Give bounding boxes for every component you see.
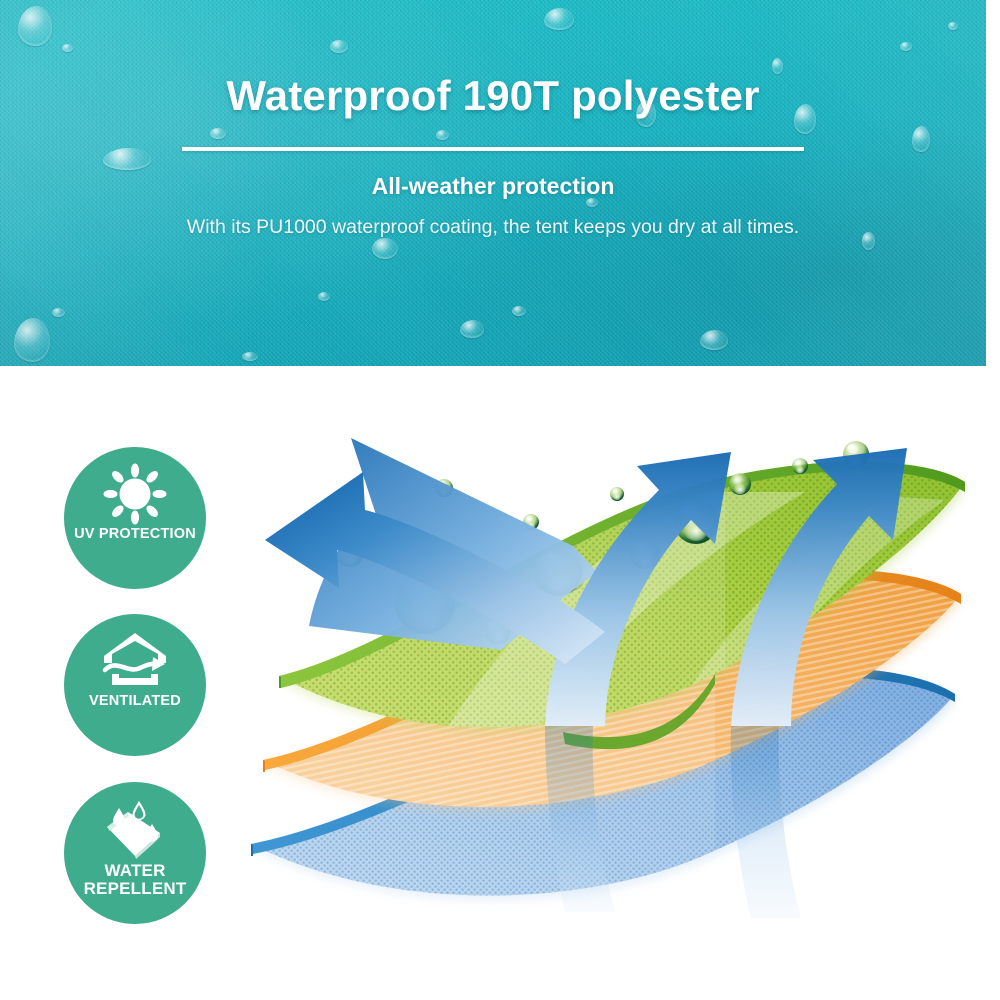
badge-label: UV PROTECTION <box>74 527 196 543</box>
house-airflow-icon <box>96 630 174 692</box>
fabric-droplets-icon <box>96 798 174 860</box>
badge-label: VENTILATED <box>89 694 181 710</box>
badge-label-line1: WATER <box>104 861 165 880</box>
badge-uv-protection: UV PROTECTION <box>64 447 206 589</box>
badge-label: WATER REPELLENT <box>84 862 187 898</box>
arrow-left-overlay <box>245 426 705 726</box>
badge-label-line2: REPELLENT <box>84 879 187 898</box>
hero-text-block: Waterproof 190T polyester All-weather pr… <box>0 0 986 242</box>
features-section: UV PROTECTION VENTILATED <box>0 366 1000 1000</box>
hero-body-text: With its PU1000 waterproof coating, the … <box>0 214 986 242</box>
hero-title: Waterproof 190T polyester <box>0 72 986 120</box>
hero-subtitle: All-weather protection <box>0 173 986 200</box>
hero-divider-rule <box>182 147 804 151</box>
sun-icon <box>96 463 174 525</box>
badge-ventilated: VENTILATED <box>64 614 206 756</box>
hero-banner: Waterproof 190T polyester All-weather pr… <box>0 0 1000 366</box>
badge-water-repellent: WATER REPELLENT <box>64 782 206 924</box>
hero-right-margin <box>986 0 1000 366</box>
